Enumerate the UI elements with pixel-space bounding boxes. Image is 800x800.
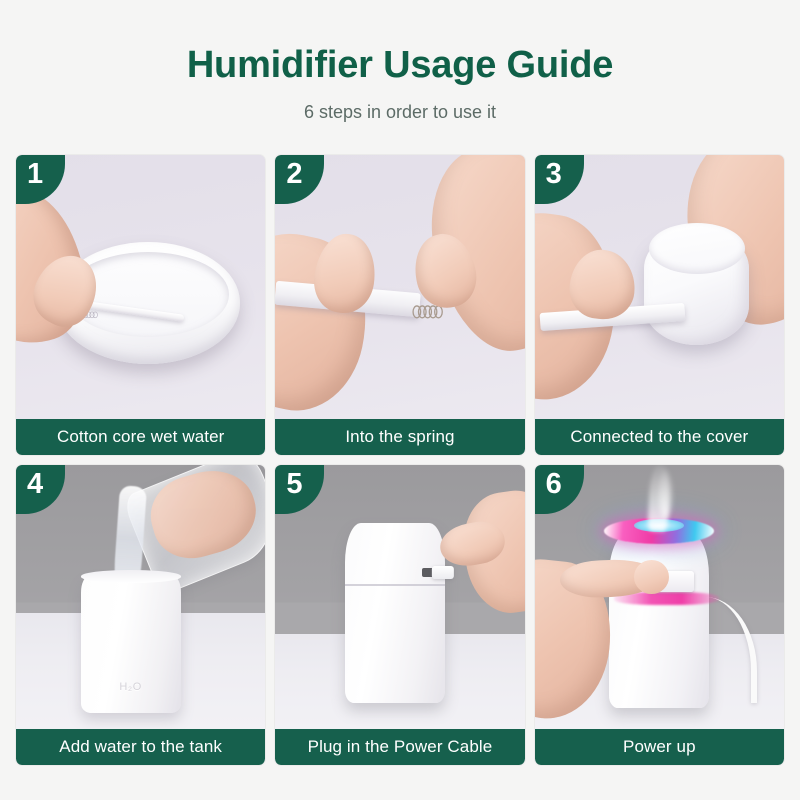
body-seam (345, 584, 445, 586)
step-caption-3: Connected to the cover (535, 419, 784, 455)
step-number-1: 1 (27, 160, 43, 189)
cover-top-surface (649, 223, 745, 274)
usage-guide-page: Humidifier Usage Guide 6 steps in order … (0, 0, 800, 800)
page-header: Humidifier Usage Guide 6 steps in order … (0, 0, 800, 150)
step-caption-4: Add water to the tank (16, 729, 265, 765)
step-caption-6: Power up (535, 729, 784, 765)
water-tank: H₂O (81, 576, 181, 713)
step-card-4[interactable]: H₂O 4 Add water to the tank (16, 465, 265, 765)
steps-grid: 1 Cotton core wet water (16, 155, 784, 765)
humidifier-cover (644, 229, 749, 345)
step-card-6[interactable]: 6 Power up (535, 465, 784, 765)
page-subtitle: 6 steps in order to use it (304, 102, 496, 123)
step-photo-3 (535, 155, 784, 419)
humidifier-body (345, 523, 445, 703)
step-number-2: 2 (286, 160, 302, 189)
mist-plume-secondary (659, 470, 671, 518)
step-number-5: 5 (286, 470, 302, 499)
step-photo-1 (16, 155, 265, 419)
step-number-6: 6 (546, 470, 562, 499)
step-card-1[interactable]: 1 Cotton core wet water (16, 155, 265, 455)
step-card-2[interactable]: 2 Into the spring (275, 155, 524, 455)
step-number-3: 3 (546, 160, 562, 189)
tank-h2o-label: H₂O (81, 681, 181, 693)
step-number-4: 4 (27, 470, 43, 499)
step-card-3[interactable]: 3 Connected to the cover (535, 155, 784, 455)
usb-plug (432, 566, 454, 579)
step-caption-2: Into the spring (275, 419, 524, 455)
step-card-5[interactable]: 5 Plug in the Power Cable (275, 465, 524, 765)
step-photo-2 (275, 155, 524, 419)
step-caption-5: Plug in the Power Cable (275, 729, 524, 765)
step-photo-6 (535, 465, 784, 729)
step-photo-5 (275, 465, 524, 729)
step-caption-1: Cotton core wet water (16, 419, 265, 455)
page-title: Humidifier Usage Guide (187, 45, 613, 87)
step-photo-4: H₂O (16, 465, 265, 729)
